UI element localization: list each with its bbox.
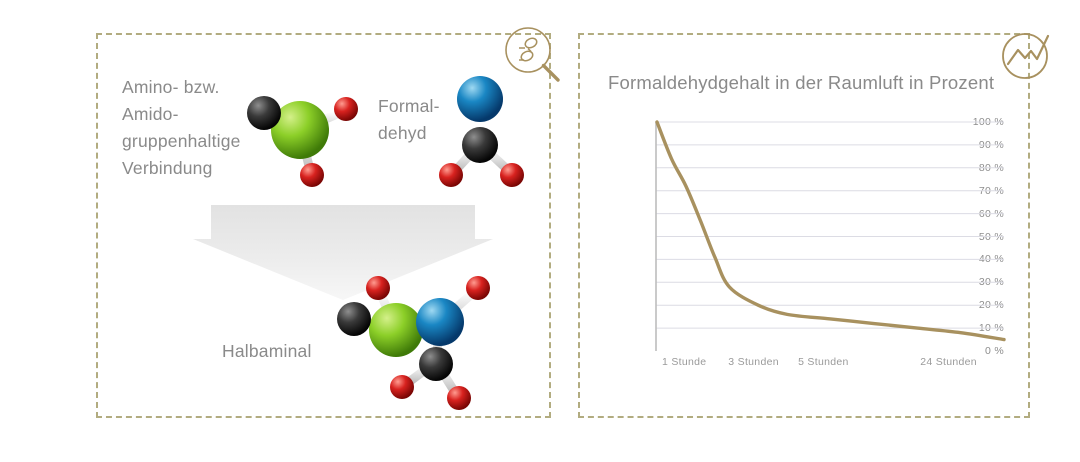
x-tick-label: 3 Stunden [728, 356, 779, 368]
x-tick-label: 1 Stunde [662, 356, 706, 368]
x-tick-label: 24 Stunden [920, 356, 977, 368]
amine-molecule [238, 82, 368, 192]
trend-chart-icon [992, 20, 1064, 92]
slide-canvas: Amino- bzw. Amido- gruppenhaltige Verbin… [0, 0, 1080, 462]
magnifier-molecule-icon [498, 20, 570, 92]
x-tick-label: 5 Stunden [798, 356, 849, 368]
chart-title: Formaldehydgehalt in der Raumluft in Pro… [608, 72, 994, 94]
plot-region [655, 122, 1004, 351]
chart-area: 100 %90 %80 %70 %60 %50 %40 %30 %20 %10 … [604, 122, 1004, 377]
halbaminal-molecule [328, 272, 508, 407]
series-line [657, 122, 1004, 340]
